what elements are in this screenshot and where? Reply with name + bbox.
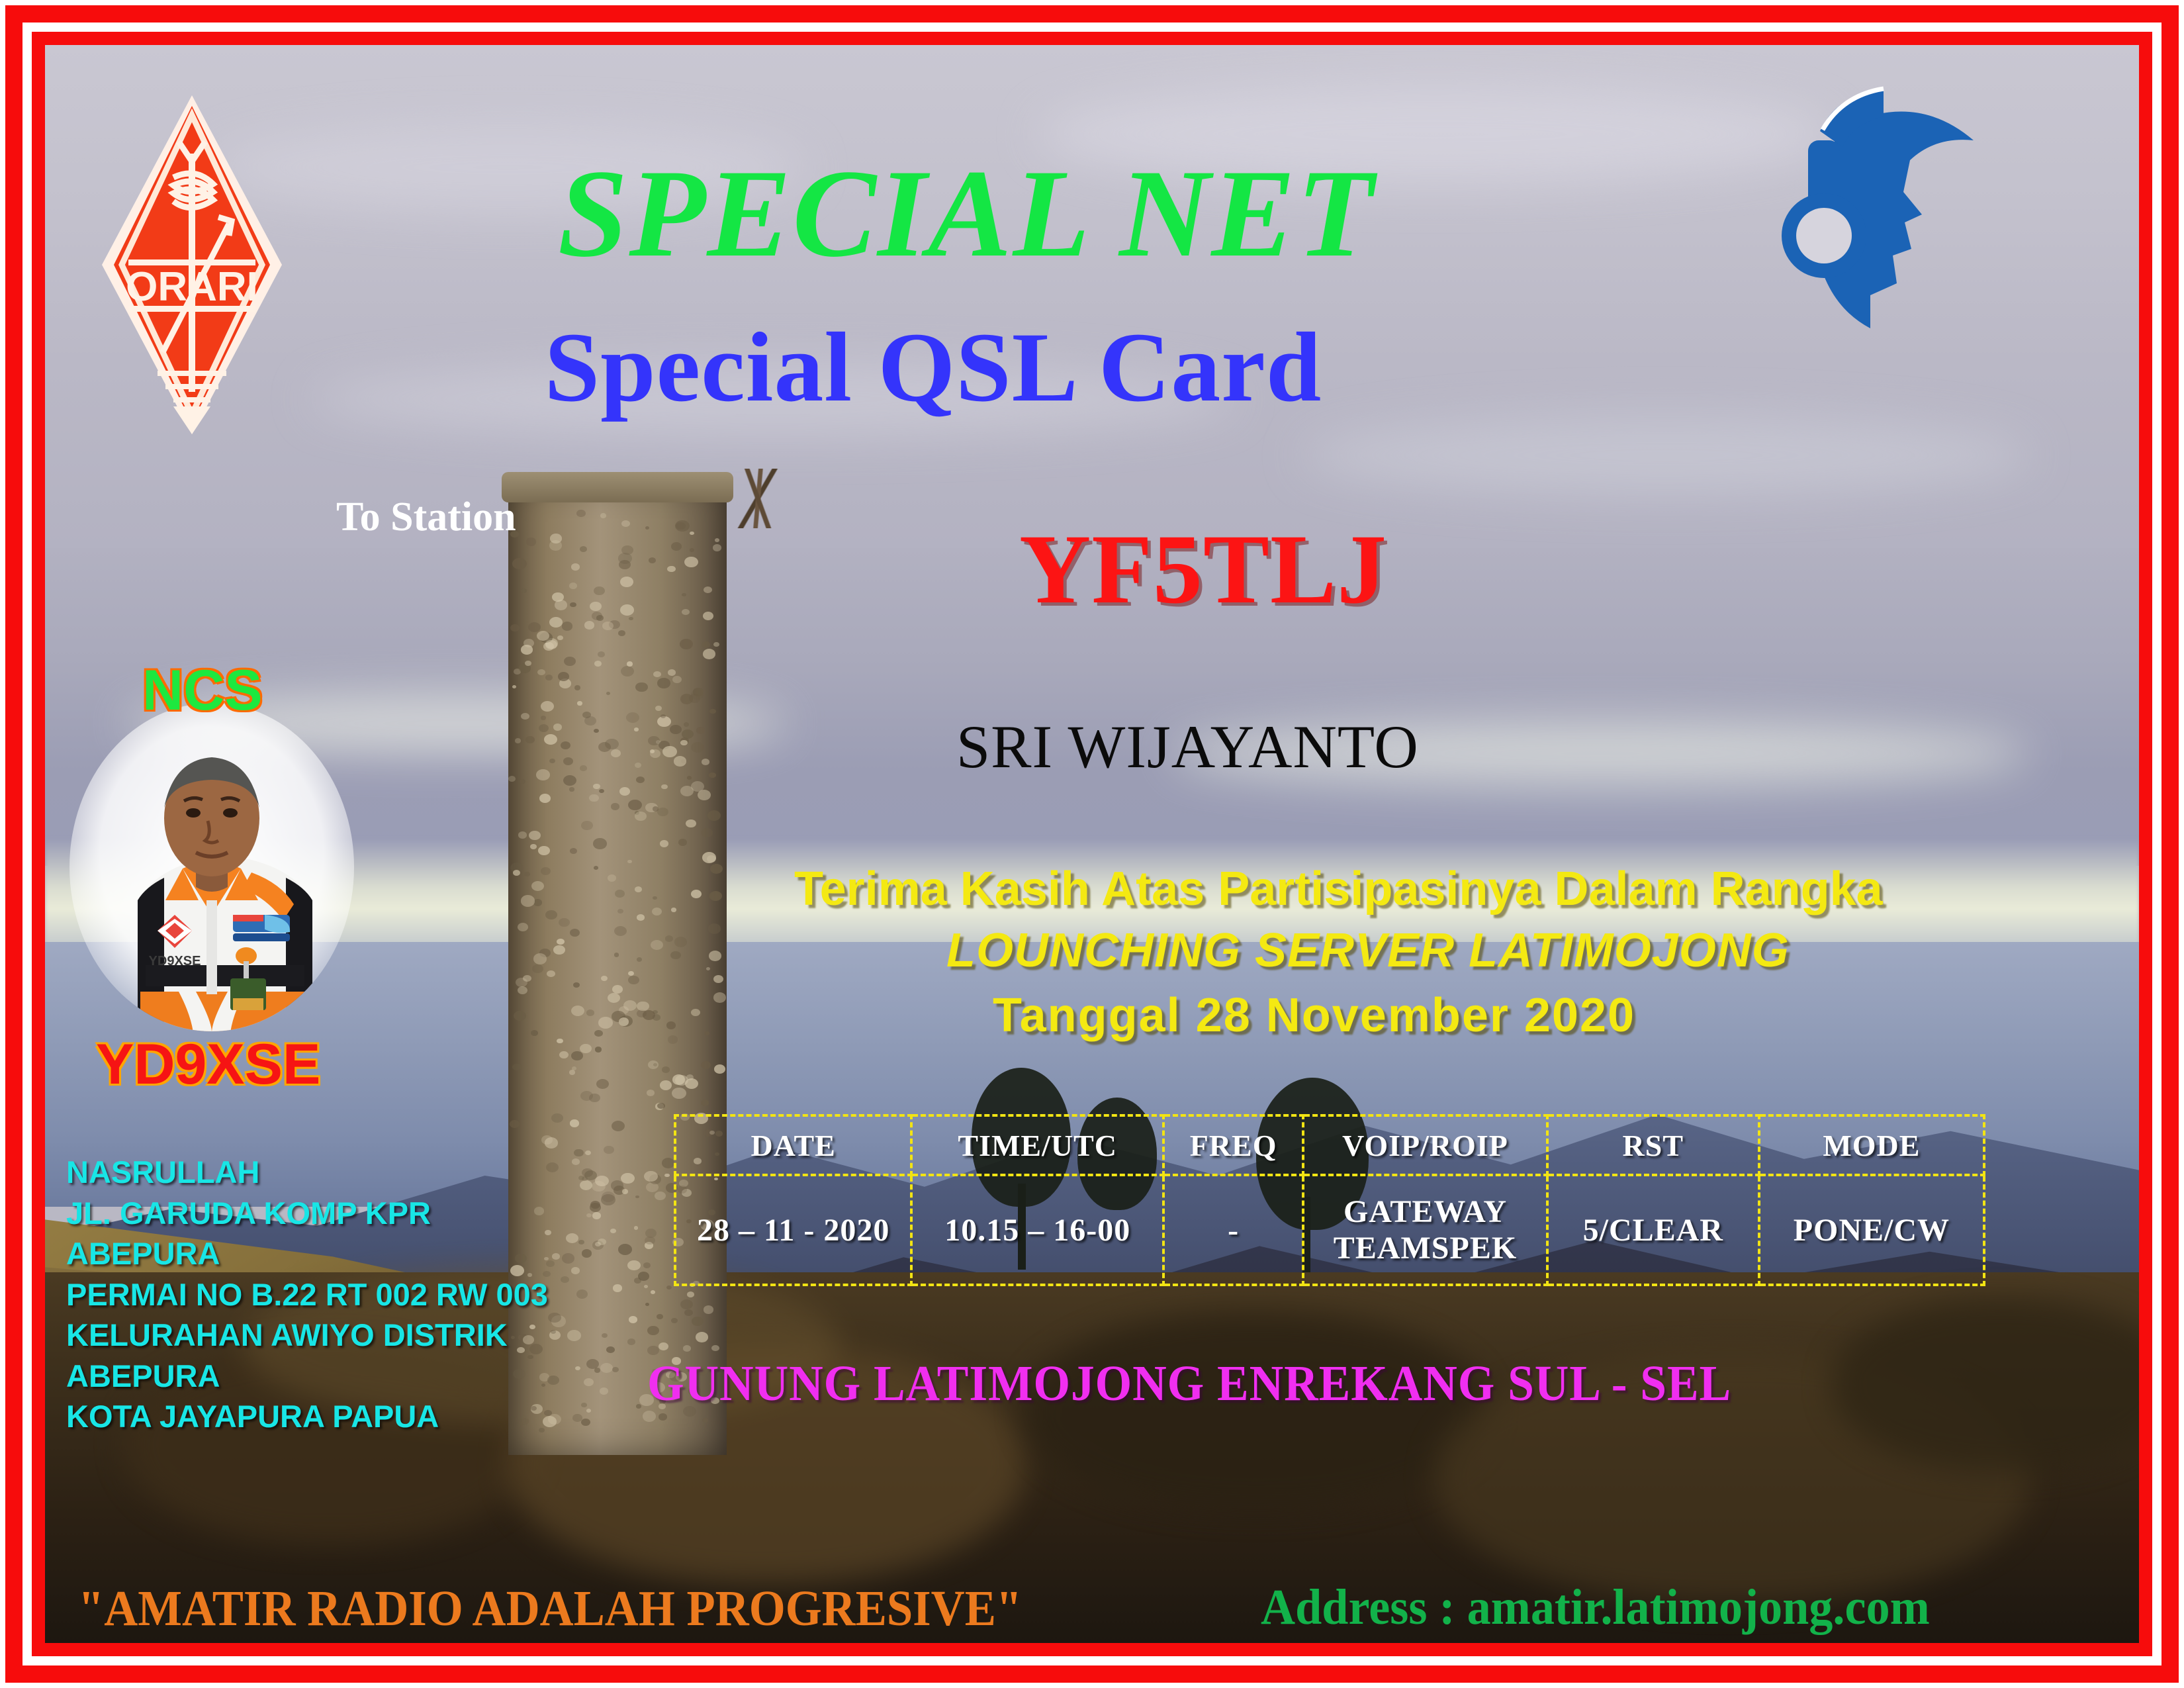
qsl-card: ORARI <box>0 0 2184 1688</box>
inner-red-border <box>32 32 2152 1656</box>
